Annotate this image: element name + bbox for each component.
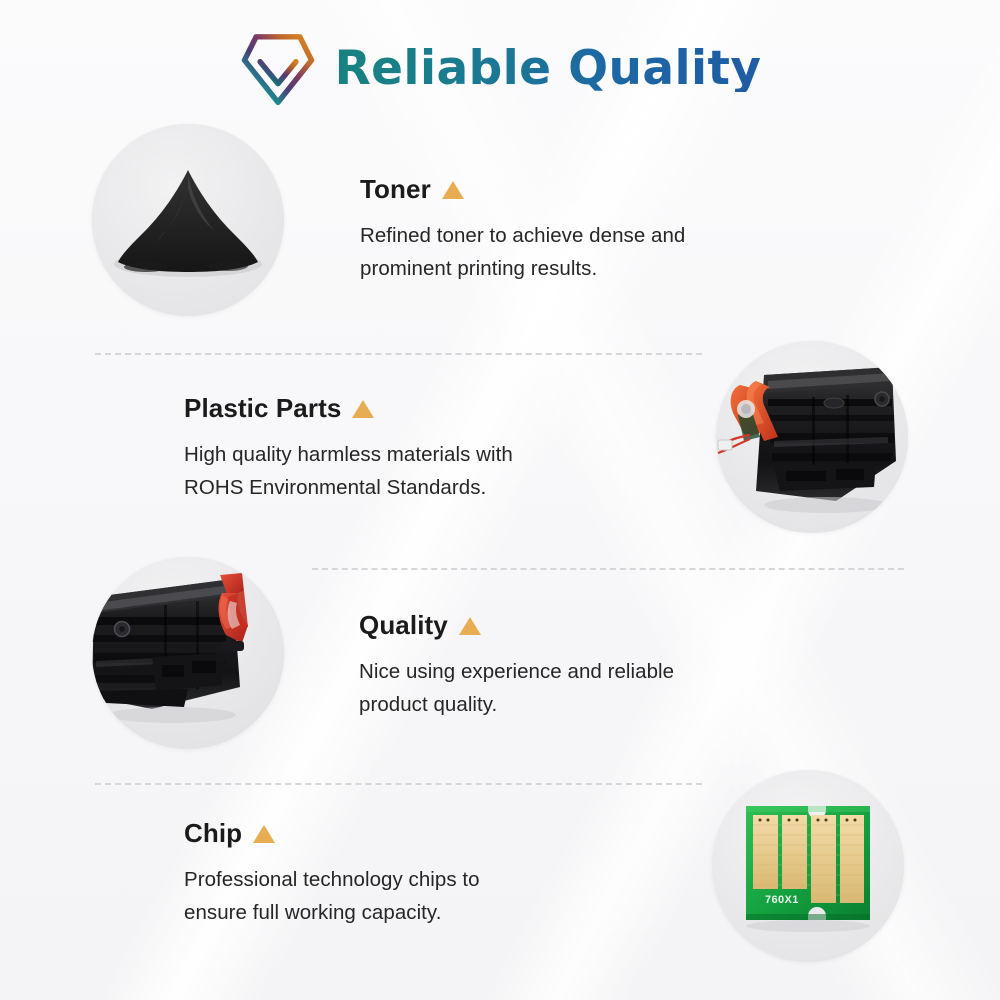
plastic-parts-photo: [716, 341, 908, 533]
triangle-up-icon: [253, 825, 275, 843]
toner-powder-photo: [92, 124, 284, 316]
feature-title-text: Plastic Parts: [184, 395, 341, 421]
feature-description-plastic-parts: High quality harmless materials with ROH…: [184, 438, 513, 504]
feature-block-chip: Chip Professional technology chips to en…: [184, 820, 480, 929]
feature-block-toner: Toner Refined toner to achieve dense and…: [360, 176, 685, 285]
infographic-page: Reliable Quality: [0, 0, 1000, 1000]
triangle-up-icon: [442, 181, 464, 199]
desc-line: prominent printing results.: [360, 252, 685, 285]
feature-block-plastic-parts: Plastic Parts High quality harmless mate…: [184, 395, 513, 504]
feature-block-quality: Quality Nice using experience and reliab…: [359, 612, 674, 721]
divider-after-plastic: [312, 568, 904, 570]
desc-line: Refined toner to achieve dense and: [360, 219, 685, 252]
feature-title-plastic-parts: Plastic Parts: [184, 395, 513, 421]
feature-description-toner: Refined toner to achieve dense and promi…: [360, 219, 685, 285]
cartridge-quality-photo: [92, 557, 284, 749]
triangle-up-icon: [459, 617, 481, 635]
divider-after-toner: [95, 353, 702, 355]
feature-title-text: Quality: [359, 612, 448, 638]
feature-description-quality: Nice using experience and reliable produ…: [359, 655, 674, 721]
desc-line: ROHS Environmental Standards.: [184, 471, 513, 504]
desc-line: Professional technology chips to: [184, 863, 480, 896]
chip-photo: 760X1: [712, 770, 904, 962]
feature-description-chip: Professional technology chips to ensure …: [184, 863, 480, 929]
desc-line: product quality.: [359, 688, 674, 721]
feature-title-text: Chip: [184, 820, 242, 846]
divider-after-quality: [95, 783, 702, 785]
feature-title-toner: Toner: [360, 176, 685, 202]
feature-title-quality: Quality: [359, 612, 674, 638]
diamond-check-gem-icon: [239, 30, 317, 106]
feature-title-text: Toner: [360, 176, 431, 202]
desc-line: Nice using experience and reliable: [359, 655, 674, 688]
feature-title-chip: Chip: [184, 820, 480, 846]
header: Reliable Quality: [0, 22, 1000, 114]
desc-line: High quality harmless materials with: [184, 438, 513, 471]
desc-line: ensure full working capacity.: [184, 896, 480, 929]
page-title: Reliable Quality: [335, 45, 762, 92]
chip-label-text: 760X1: [765, 894, 799, 906]
triangle-up-icon: [352, 400, 374, 418]
